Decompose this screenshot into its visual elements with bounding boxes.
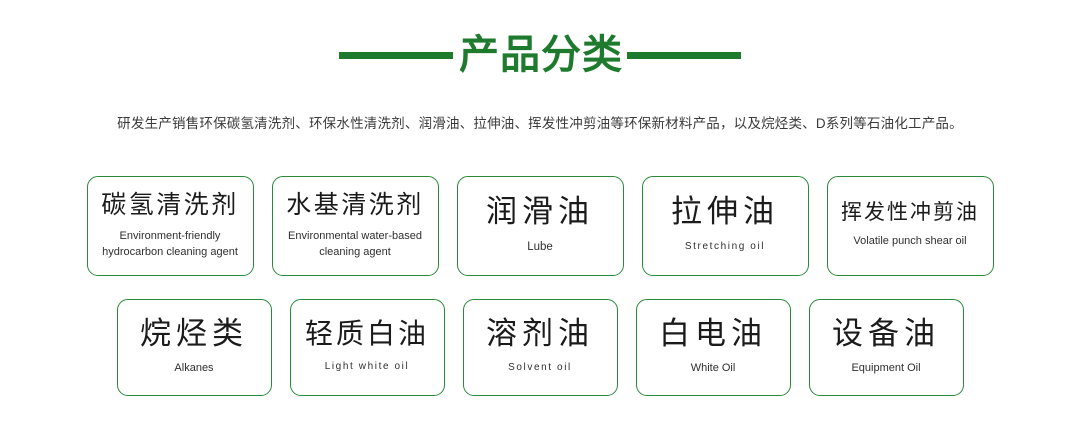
card-subtitle-line-1: Equipment Oil [851,360,920,376]
product-card-row-2: 烷烃类 Alkanes 轻质白油 Light white oil 溶剂油 Sol… [0,299,1080,396]
card-title-cn: 挥发性冲剪油 [841,201,979,225]
card-subtitle-en: Volatile punch shear oil [853,233,966,249]
section-subtitle: 研发生产销售环保碳氢清洗剂、环保水性清洗剂、润滑油、拉伸油、挥发性冲剪油等环保新… [0,114,1080,134]
product-category-section: 产品分类 研发生产销售环保碳氢清洗剂、环保水性清洗剂、润滑油、拉伸油、挥发性冲剪… [0,0,1080,421]
product-card-hydrocarbon-cleaner[interactable]: 碳氢清洗剂 Environment-friendly hydrocarbon c… [87,176,254,276]
product-card-light-white-oil[interactable]: 轻质白油 Light white oil [290,299,445,396]
product-card-water-based-cleaner[interactable]: 水基清洗剂 Environmental water-based cleaning… [272,176,439,276]
card-title-cn: 碳氢清洗剂 [101,191,239,219]
card-subtitle-line-1: White Oil [691,360,736,376]
card-subtitle-line-1: Lube [527,239,553,255]
product-card-row-1: 碳氢清洗剂 Environment-friendly hydrocarbon c… [0,176,1080,276]
card-subtitle-en: Environmental water-based cleaning agent [288,228,422,260]
title-rule-right [627,52,741,59]
card-subtitle-en: Solvent oil [508,360,572,376]
card-title-cn: 润滑油 [486,195,594,230]
card-title-cn: 溶剂油 [486,317,594,352]
card-title-cn: 设备油 [832,317,940,352]
card-title-cn: 拉伸油 [671,195,779,230]
product-card-lube[interactable]: 润滑油 Lube [457,176,624,276]
product-card-grid: 碳氢清洗剂 Environment-friendly hydrocarbon c… [0,176,1080,396]
product-card-alkanes[interactable]: 烷烃类 Alkanes [117,299,272,396]
card-subtitle-en: White Oil [691,360,736,376]
card-title-cn: 水基清洗剂 [286,191,424,219]
card-subtitle-line-1: Volatile punch shear oil [853,233,966,249]
card-subtitle-line-1: Stretching oil [685,239,765,255]
section-title-block: 产品分类 [0,33,1080,77]
card-subtitle-line-1: Solvent oil [508,360,572,376]
product-card-equipment-oil[interactable]: 设备油 Equipment Oil [809,299,964,396]
card-subtitle-en: Environment-friendly hydrocarbon cleanin… [102,228,238,260]
card-subtitle-en: Stretching oil [685,239,765,255]
card-subtitle-line-1: Light white oil [325,359,410,375]
page-title: 产品分类 [459,33,623,77]
card-subtitle-en: Light white oil [325,359,410,375]
card-subtitle-line-2: cleaning agent [288,244,422,260]
card-title-cn: 烷烃类 [140,317,248,352]
card-subtitle-en: Alkanes [174,360,213,376]
product-card-white-oil[interactable]: 白电油 White Oil [636,299,791,396]
card-subtitle-en: Lube [527,239,553,255]
card-subtitle-line-1: Environmental water-based [288,228,422,244]
product-card-volatile-punch-shear-oil[interactable]: 挥发性冲剪油 Volatile punch shear oil [827,176,994,276]
card-subtitle-en: Equipment Oil [851,360,920,376]
card-subtitle-line-1: Alkanes [174,360,213,376]
product-card-stretching-oil[interactable]: 拉伸油 Stretching oil [642,176,809,276]
title-rule-left [339,52,453,59]
card-subtitle-line-1: Environment-friendly [102,228,238,244]
card-title-cn: 白电油 [659,317,767,352]
card-subtitle-line-2: hydrocarbon cleaning agent [102,244,238,260]
product-card-solvent-oil[interactable]: 溶剂油 Solvent oil [463,299,618,396]
card-title-cn: 轻质白油 [305,318,429,349]
